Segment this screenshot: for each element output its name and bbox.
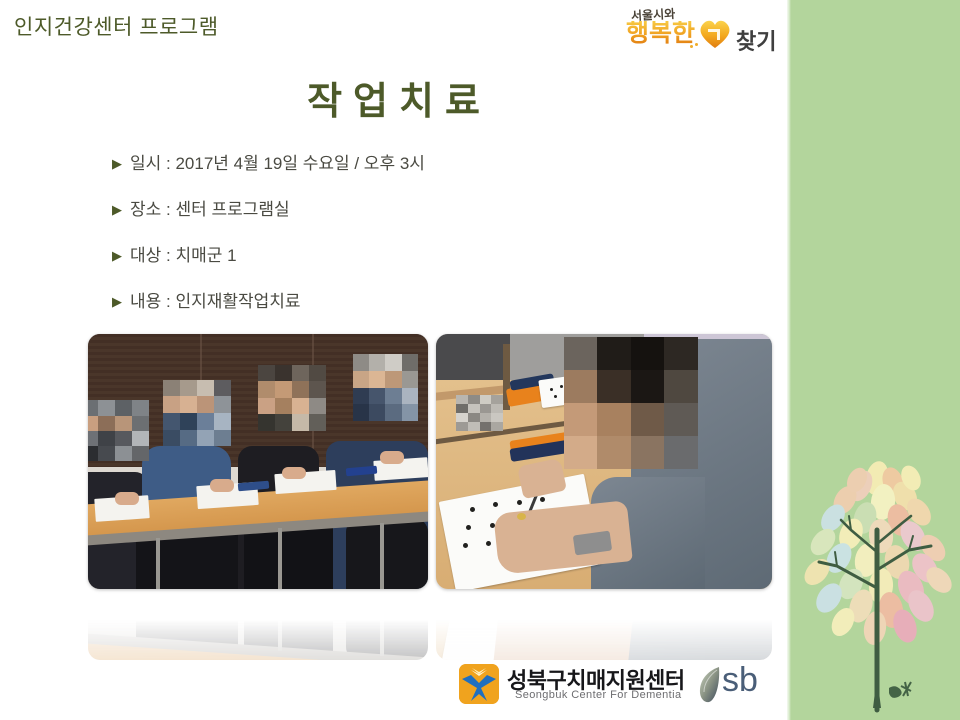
pixelated-face (258, 365, 326, 431)
person-mark-icon (459, 664, 499, 704)
pixelated-face (353, 354, 418, 420)
closeup-writing-photo-reflection (436, 590, 772, 660)
list-item-text: 내용 : 인지재활작업치료 (130, 290, 301, 314)
triangle-bullet-icon: ▶ (112, 244, 130, 268)
artist-signature (889, 682, 911, 698)
logo-name-en: Seongbuk Center For Dementia (515, 689, 682, 701)
page-kicker: 인지건강센터 프로그램 (14, 11, 219, 41)
pixelated-face (88, 400, 149, 461)
pixelated-face (163, 380, 231, 446)
group-activity-photo-reflection (88, 590, 428, 660)
list-item-text: 일시 : 2017년 4월 19일 수요일 / 오후 3시 (130, 152, 425, 176)
slide: 인지건강센터 프로그램 서울시와 행복한 찾기 작업치료 ▶ 일시 : 2017… (0, 0, 960, 720)
sb-wordmark: sb (722, 661, 758, 700)
triangle-bullet-icon: ▶ (112, 198, 130, 222)
seongbuk-center-logo: 성북구치매지원센터 Seongbuk Center For Dementia s… (459, 662, 769, 708)
triangle-bullet-icon: ▶ (112, 290, 130, 314)
page-title: 작업치료 (0, 70, 787, 125)
list-item: ▶ 일시 : 2017년 4월 19일 수요일 / 오후 3시 (112, 152, 752, 176)
decorative-side-panel (787, 0, 960, 720)
list-item-text: 장소 : 센터 프로그램실 (130, 198, 290, 222)
heart-icon (698, 18, 732, 50)
triangle-bullet-icon: ▶ (112, 152, 130, 176)
logo-line-find: 찾기 (736, 24, 776, 56)
pixelated-object (456, 395, 503, 431)
list-item-text: 대상 : 치매군 1 (130, 244, 237, 268)
pastel-tree-icon (793, 420, 960, 720)
logo-line-happy: 행복한 (626, 21, 695, 46)
list-item: ▶ 장소 : 센터 프로그램실 (112, 198, 752, 222)
pixelated-face (564, 337, 698, 470)
list-item: ▶ 내용 : 인지재활작업치료 (112, 290, 752, 314)
closeup-writing-photo (436, 334, 772, 589)
info-list: ▶ 일시 : 2017년 4월 19일 수요일 / 오후 3시 ▶ 장소 : 센… (112, 152, 752, 336)
feather-icon (697, 665, 721, 705)
group-activity-photo (88, 334, 428, 589)
seoul-happy-logo: 서울시와 행복한 찾기 (624, 6, 784, 54)
list-item: ▶ 대상 : 치매군 1 (112, 244, 752, 268)
